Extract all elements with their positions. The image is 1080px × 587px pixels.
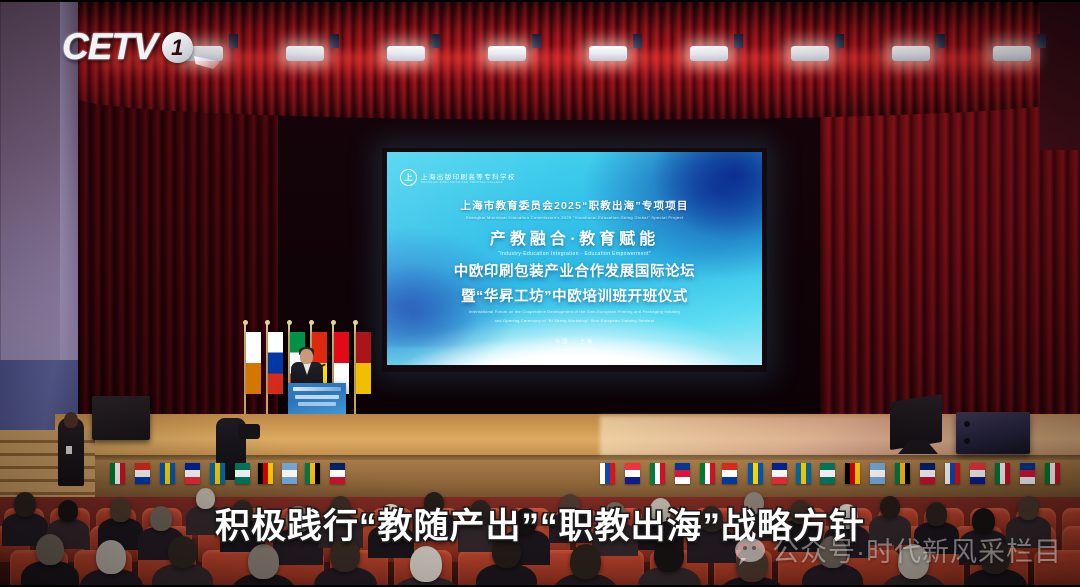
- podium-text-line: [298, 402, 336, 406]
- light-stem: [431, 34, 440, 48]
- audience-member-head: [248, 544, 279, 579]
- stage-light: [690, 46, 728, 61]
- title-cn-line2: 暨“华昇工坊”中欧培训班开班仪式: [401, 288, 748, 307]
- flag-11: [600, 463, 615, 484]
- pa-speaker: [956, 412, 1030, 454]
- stage-light: [286, 46, 324, 61]
- theme-cn: 产教融合·教育赋能: [401, 225, 748, 249]
- podium-header-bar: [293, 387, 341, 391]
- light-stem: [229, 34, 238, 48]
- screen-text-block: 上海市教育委员会2025“职教出海”专项项目 Shanghai Municipa…: [387, 198, 762, 324]
- flag-1: [110, 463, 125, 484]
- flag-9: [895, 463, 910, 484]
- project-line-en: Shanghai Municipal Education Commission'…: [401, 215, 748, 220]
- light-stem: [532, 34, 541, 48]
- channel-logo: CETV 1: [62, 28, 193, 65]
- channel-logo-text: CETV: [62, 28, 157, 65]
- auditorium-wall-right: [1040, 0, 1080, 150]
- stage-light: [589, 46, 627, 61]
- letterbox-top: [0, 0, 1080, 2]
- institution-logo: 上 上海出版印刷高等专科学校 SHANGHAI PUBLISHING AND P…: [400, 169, 516, 186]
- project-line-cn: 上海市教育委员会2025“职教出海”专项项目: [401, 198, 748, 213]
- screen-ink-wash-left: [387, 261, 485, 347]
- flag-5: [210, 463, 225, 484]
- stage-light: [387, 46, 425, 61]
- channel-watermark: 公众号·时代新风采栏目: [735, 530, 1062, 569]
- spain-flag: [356, 332, 371, 394]
- flag-1: [1045, 463, 1060, 484]
- flag-10: [920, 463, 935, 484]
- title-en-line1: International Forum on the Cooperative D…: [401, 309, 748, 315]
- event-date: 2025.11.11: [387, 354, 762, 359]
- watermark-text: 公众号·时代新风采栏目: [772, 530, 1062, 569]
- flag-13: [995, 463, 1010, 484]
- presentation-screen: 上 上海出版印刷高等专科学校 SHANGHAI PUBLISHING AND P…: [382, 148, 767, 372]
- flag-3: [160, 463, 175, 484]
- flag-13: [650, 463, 665, 484]
- crew-badge: [66, 446, 72, 454]
- podium-text-line: [295, 395, 339, 399]
- flag-4: [772, 463, 787, 484]
- flag-14: [675, 463, 690, 484]
- flag-7: [258, 463, 273, 484]
- flag-12: [970, 463, 985, 484]
- title-en-line2: and Opening Ceremony of "Bi Sheng Worksh…: [401, 318, 748, 324]
- speaker-handle-icon: [964, 438, 970, 444]
- light-stem: [633, 34, 642, 48]
- flag-2: [135, 463, 150, 484]
- channel-number-badge: 1: [162, 32, 193, 63]
- stage-monitor-left: [92, 396, 150, 440]
- stage-light: [791, 46, 829, 61]
- flag-1: [700, 463, 715, 484]
- crew-head: [64, 412, 78, 428]
- flag-14: [1020, 463, 1035, 484]
- title-cn-line1: 中欧印刷包装产业合作发展国际论坛: [401, 263, 748, 282]
- russia-flag: [268, 332, 283, 394]
- light-stem: [936, 34, 945, 48]
- stage-light: [993, 46, 1031, 61]
- light-stem: [330, 34, 339, 48]
- flag-6: [235, 463, 250, 484]
- audience-member-head: [570, 544, 601, 579]
- stage-light: [892, 46, 930, 61]
- flag-2: [722, 463, 737, 484]
- flag-12: [625, 463, 640, 484]
- flag-10: [330, 463, 345, 484]
- institution-logo-en: SHANGHAI PUBLISHING AND PRINTING COLLEGE: [421, 181, 516, 184]
- flag-4: [185, 463, 200, 484]
- flag-6: [820, 463, 835, 484]
- stage-light: [488, 46, 526, 61]
- wechat-bubble-icon: [735, 538, 765, 562]
- camera-rig: [238, 424, 260, 439]
- flag-8: [870, 463, 885, 484]
- audience-member-head: [410, 546, 442, 582]
- flag-8: [282, 463, 297, 484]
- flag-3: [748, 463, 763, 484]
- light-stem: [1037, 34, 1046, 48]
- seal-icon: 上: [400, 169, 417, 186]
- location-cn: 中国 · 上海: [387, 338, 762, 345]
- institution-logo-cn: 上海出版印刷高等专科学校: [421, 171, 516, 181]
- light-stem: [734, 34, 743, 48]
- screen-footer: 中国 · 上海 Shanghai, China 2025.11.11: [387, 338, 762, 359]
- screen-wave-graphic: [387, 321, 762, 365]
- screen-ink-wash-top: [650, 152, 762, 242]
- light-stem: [835, 34, 844, 48]
- theme-en: “Industry-Education Integration · Educat…: [401, 251, 748, 257]
- flag-5: [796, 463, 811, 484]
- speaker-handle-icon: [964, 421, 970, 427]
- broadcast-frame: 上 上海出版印刷高等专科学校 SHANGHAI PUBLISHING AND P…: [0, 0, 1080, 587]
- presenter-head: [300, 349, 313, 364]
- flag-9: [305, 463, 320, 484]
- flag-11: [945, 463, 960, 484]
- cyprus-flag: [246, 332, 261, 394]
- location-en: Shanghai, China: [387, 347, 762, 352]
- flag-7: [845, 463, 860, 484]
